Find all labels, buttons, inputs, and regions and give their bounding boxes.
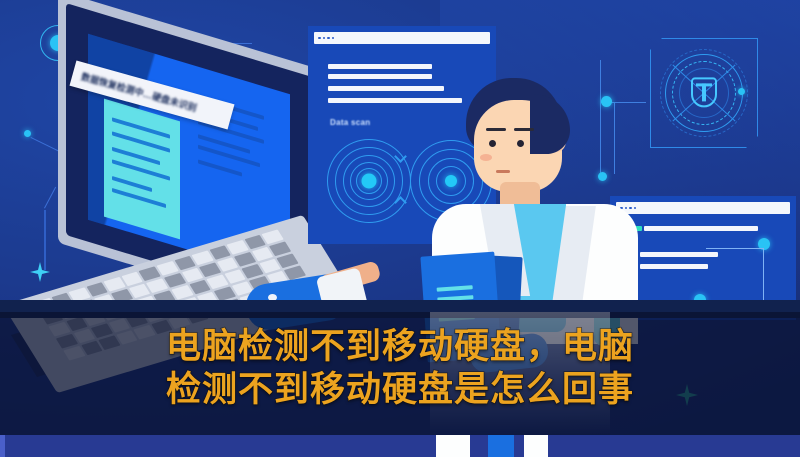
titlebar-dot-icon [332, 37, 335, 40]
title-line-1: 电脑检测不到移动硬盘，电脑 [166, 327, 634, 367]
shield-icon [691, 77, 717, 107]
mouth [496, 170, 510, 173]
bottom-strip [0, 435, 800, 457]
panel-text-line [328, 64, 432, 69]
banner-illustration: 数据恢复检测中…硬盘未识别 Data scan [0, 0, 800, 457]
eyebrow [514, 128, 534, 131]
circuit-trace [763, 248, 764, 304]
titlebar-dot-icon [323, 37, 326, 40]
panel-text-line [640, 264, 708, 269]
scan-label: Data scan [330, 118, 371, 127]
cheek [480, 154, 492, 161]
hair-swoop [530, 94, 570, 154]
panel-text-line [640, 252, 718, 257]
panel-titlebar[interactable] [314, 32, 490, 44]
titlebar-dot-icon [318, 37, 321, 40]
leg-right [488, 435, 514, 457]
panel-text-line [644, 226, 758, 231]
decor-node [738, 88, 745, 95]
eyebrow [486, 128, 506, 131]
technician-character [418, 78, 648, 338]
titlebar-dot-icon [327, 37, 330, 40]
circuit-trace [706, 248, 764, 249]
bottom-strip-edge [0, 435, 5, 457]
eye [517, 140, 524, 147]
eye [489, 140, 496, 147]
hud-security-badge [650, 38, 758, 148]
leg-right-white [524, 435, 548, 457]
leg-left [436, 435, 470, 457]
page-title: 电脑检测不到移动硬盘，电脑检测不到移动硬盘是怎么回事 [0, 326, 800, 412]
title-line-2: 检测不到移动硬盘是怎么回事 [166, 370, 634, 410]
panel-text-line [328, 74, 432, 79]
